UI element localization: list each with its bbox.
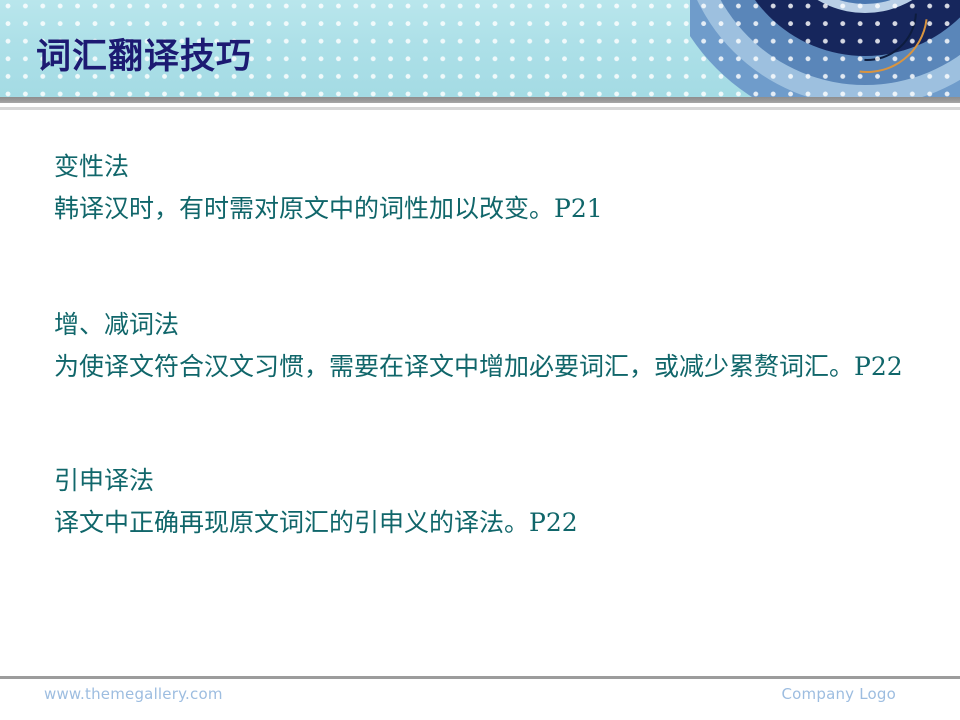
footer-divider	[0, 676, 960, 679]
block-heading-1: 变性法	[54, 146, 934, 188]
content-block-1: 变性法 韩译汉时，有时需对原文中的词性加以改变。P21	[54, 146, 934, 230]
block-heading-3: 引申译法	[54, 460, 934, 502]
slide-title: 词汇翻译技巧	[36, 34, 252, 80]
slide-canvas: 词汇翻译技巧 变性法 韩译汉时，有时需对原文中的词性加以改变。P21 增、减词法…	[0, 0, 960, 720]
block-spacer-1	[54, 256, 934, 304]
slide-header-band: 词汇翻译技巧	[0, 0, 960, 97]
slide-body: 变性法 韩译汉时，有时需对原文中的词性加以改变。P21 增、减词法 为使译文符合…	[54, 146, 934, 570]
footer-company-logo: Company Logo	[782, 685, 897, 703]
footer-website-url[interactable]: www.themegallery.com	[44, 685, 223, 703]
block-heading-2: 增、减词法	[54, 304, 934, 346]
block-body-1: 韩译汉时，有时需对原文中的词性加以改变。P21	[54, 188, 914, 230]
block-body-3: 译文中正确再现原文词汇的引申义的译法。P22	[54, 502, 914, 544]
block-body-2: 为使译文符合汉文习惯，需要在译文中增加必要词汇，或减少累赘词汇。P22	[54, 346, 941, 388]
content-block-2: 增、减词法 为使译文符合汉文习惯，需要在译文中增加必要词汇，或减少累赘词汇。P2…	[54, 304, 934, 388]
header-decoration-arcs	[690, 0, 960, 97]
header-divider-light	[0, 107, 960, 110]
block-spacer-2	[54, 414, 934, 460]
content-block-3: 引申译法 译文中正确再现原文词汇的引申义的译法。P22	[54, 460, 934, 544]
